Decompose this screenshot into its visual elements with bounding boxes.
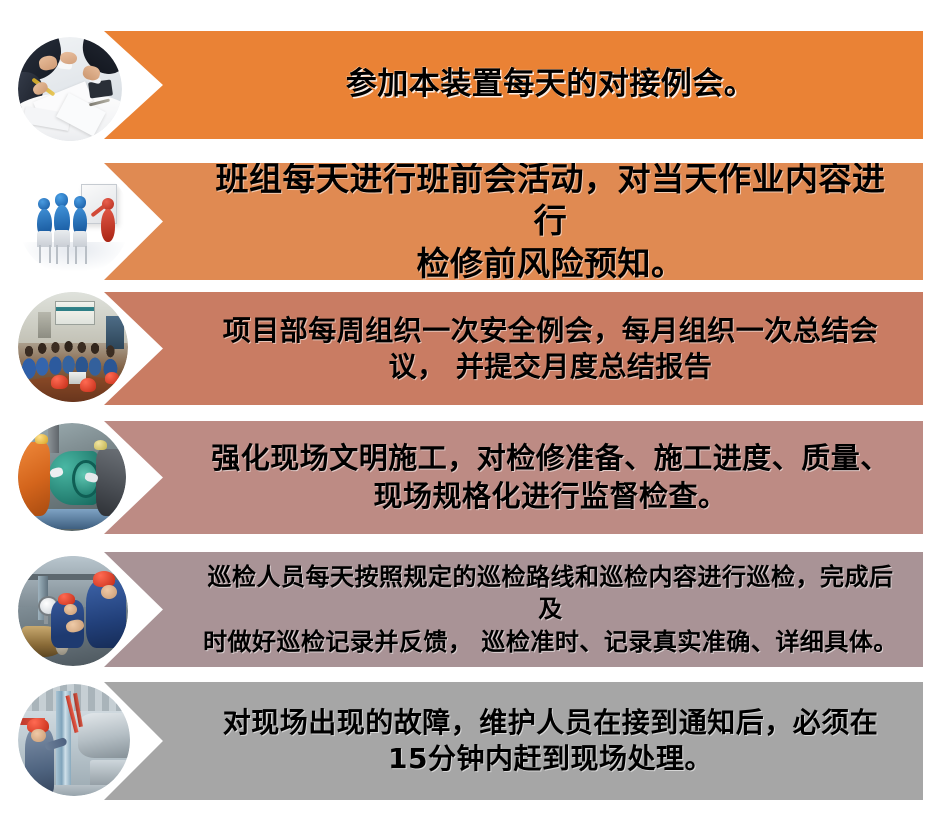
photo-shape-chair-3 <box>73 231 88 247</box>
business-meeting-photo-art <box>18 37 122 141</box>
photo-shape-worker-orange-suit <box>18 442 50 515</box>
photo-shape-attendee-head-3 <box>74 196 86 208</box>
slide-canvas: 参加本装置每天的对接例会。 <box>0 0 939 814</box>
equipment-repair-photo <box>18 684 130 796</box>
process-banner-3[interactable]: 项目部每周组织一次安全例会，每月组织一次总结会 议， 并提交月度总结报告 <box>104 292 923 405</box>
process-row-4[interactable]: 强化现场文明施工，对检修准备、施工进度、质量、 现场规格化进行监督检查。 <box>0 421 939 534</box>
photo-shape-chair-leg-3 <box>56 245 58 264</box>
safety-meeting-photo <box>18 292 128 402</box>
photo-shape-worker-1-face <box>101 585 118 599</box>
photo-shape-worker-face <box>31 729 46 742</box>
process-row-5[interactable]: 巡检人员每天按照规定的巡检路线和巡检内容进行巡检，完成后及 时做好巡检记录并反馈… <box>0 552 939 667</box>
photo-shape-yellow-helmet-2 <box>94 440 107 450</box>
process-banner-4[interactable]: 强化现场文明施工，对检修准备、施工进度、质量、 现场规格化进行监督检查。 <box>104 421 923 534</box>
training-clipart-photo-art <box>18 164 130 276</box>
photo-shape-wall-poster <box>55 301 94 325</box>
patrol-inspection-photo <box>18 556 128 666</box>
process-banner-6[interactable]: 对现场出现的故障，维护人员在接到通知后，必须在 15分钟内赶到现场处理。 <box>104 682 923 800</box>
process-banner-2[interactable]: 班组每天进行班前会活动，对当天作业内容进行 检修前风险预知。 <box>104 163 923 280</box>
safety-meeting-photo-art <box>18 292 128 402</box>
process-row-1[interactable]: 参加本装置每天的对接例会。 <box>0 31 939 139</box>
photo-shape-red-helmet-2 <box>80 378 97 392</box>
photo-shape-chair-leg-2 <box>49 245 51 263</box>
process-row-6[interactable]: 对现场出现的故障，维护人员在接到通知后，必须在 15分钟内赶到现场处理。 <box>0 682 939 800</box>
process-banner-4-text: 强化现场文明施工，对检修准备、施工进度、质量、 现场规格化进行监督检查。 <box>104 440 923 514</box>
photo-shape-chair-leg-1 <box>39 245 41 263</box>
equipment-repair-photo-art <box>18 684 130 796</box>
process-banner-6-text: 对现场出现的故障，维护人员在接到通知后，必须在 15分钟内赶到现场处理。 <box>104 705 923 777</box>
photo-shape-worker-gray-suit <box>96 449 126 516</box>
process-row-3[interactable]: 项目部每周组织一次安全例会，每月组织一次总结会 议， 并提交月度总结报告 <box>0 292 939 405</box>
photo-shape-overhead-pipe <box>48 423 59 453</box>
process-row-2[interactable]: 班组每天进行班前会活动，对当天作业内容进行 检修前风险预知。 <box>0 163 939 280</box>
training-clipart-photo <box>18 164 130 276</box>
process-banner-5-text: 巡检人员每天按照规定的巡检路线和巡检内容进行巡检，完成后及 时做好巡检记录并反馈… <box>104 561 923 657</box>
photo-shape-yellow-helmet-1 <box>35 434 48 444</box>
photo-shape-chair-leg-6 <box>85 246 87 264</box>
process-banner-5[interactable]: 巡检人员每天按照规定的巡检路线和巡检内容进行巡检，完成后及 时做好巡检记录并反馈… <box>104 552 923 667</box>
photo-shape-red-helmet-3 <box>105 372 119 384</box>
photo-shape-chair-leg-5 <box>75 246 77 264</box>
process-banner-2-text: 班组每天进行班前会活动，对当天作业内容进行 检修前风险预知。 <box>104 158 923 285</box>
photo-shape-chair-leg-4 <box>67 245 69 264</box>
process-banner-1-text: 参加本装置每天的对接例会。 <box>104 65 923 105</box>
process-banner-1[interactable]: 参加本装置每天的对接例会。 <box>104 31 923 139</box>
site-construction-photo <box>18 423 126 531</box>
patrol-inspection-photo-art <box>18 556 128 666</box>
site-construction-photo-art <box>18 423 126 531</box>
photo-shape-large-tank <box>78 713 130 758</box>
photo-shape-red-helmet-1 <box>51 375 68 389</box>
business-meeting-photo <box>18 37 122 141</box>
process-banner-3-text: 项目部每周组织一次安全例会，每月组织一次总结会 议， 并提交月度总结报告 <box>104 313 923 385</box>
